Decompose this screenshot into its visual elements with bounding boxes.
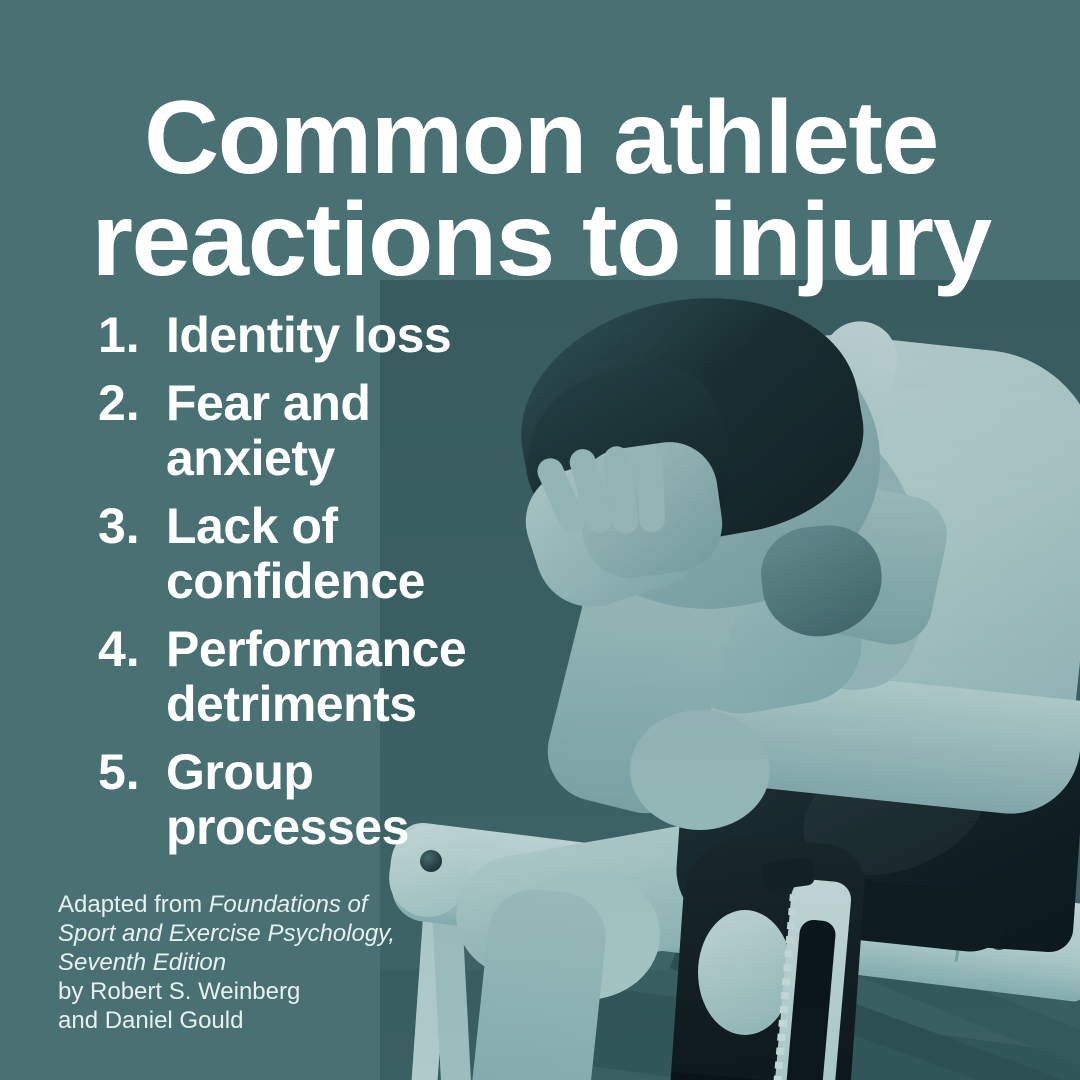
list-item: 2. Fear and anxiety [98,376,498,486]
list-item-label: Fear and anxiety [166,376,498,486]
attribution-prefix: Adapted from [58,891,209,918]
list-item-label: Performance detriments [166,622,498,732]
list-item-number: 1. [98,308,166,363]
title-line-2: reactions to injury [31,190,1051,292]
list-item-number: 2. [98,376,166,431]
knee-brace-patella-pad [698,910,792,1035]
page-title: Common athlete reactions to injury [46,88,1036,292]
title-line-1: Common athlete [46,88,1036,190]
athlete-reactions-list: 1. Identity loss 2. Fear and anxiety 3. … [58,308,498,868]
book-title-part-1: Foundations of [209,891,368,918]
attribution-authors-line-1: by Robert S. Weinberg [58,977,438,1006]
list-item: 5. Group processes [98,745,498,855]
list-item: 4. Performance detriments [98,622,498,732]
list-item-label: Identity loss [166,308,451,363]
list-item-label: Group processes [166,745,498,855]
infographic-canvas: Common athlete reactions to injury 1. Id… [0,0,1080,1080]
list-item-label: Lack of confidence [166,499,498,609]
list-item: 3. Lack of confidence [98,499,498,609]
list-item-number: 5. [98,745,166,800]
book-title-part-3: Seventh Edition [58,948,438,977]
athlete-finger-4 [637,450,666,533]
attribution-authors-line-2: and Daniel Gould [58,1006,438,1035]
list-item: 1. Identity loss [98,308,498,363]
list-item-number: 3. [98,499,166,554]
book-title-part-2: Sport and Exercise Psychology, [58,919,438,948]
list-item-number: 4. [98,622,166,677]
attribution-line-1: Adapted from Foundations of [58,890,438,919]
source-attribution: Adapted from Foundations of Sport and Ex… [58,890,438,1035]
athlete-elbow [630,710,770,830]
